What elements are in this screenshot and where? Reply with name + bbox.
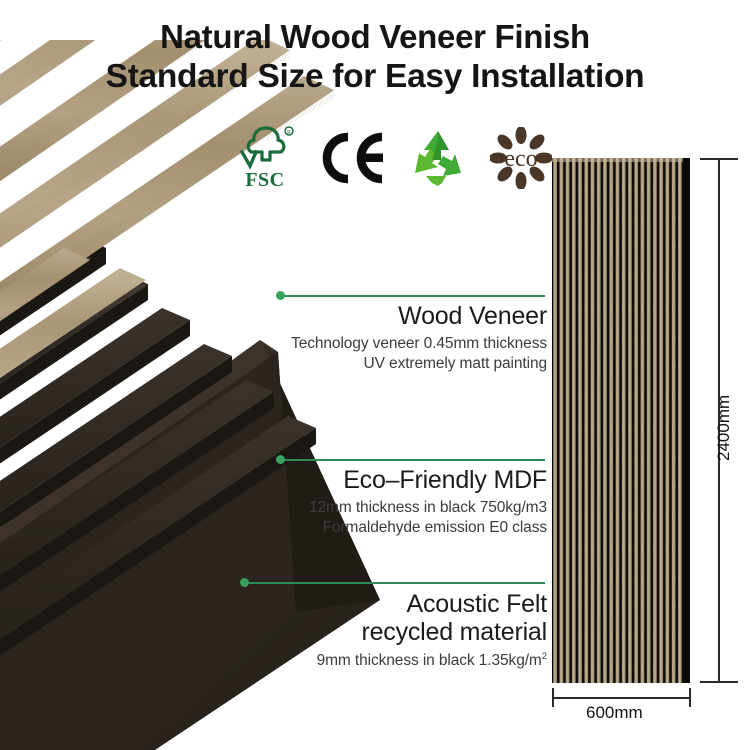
dim-horizontal-line: [552, 697, 691, 699]
dim-height-label: 2400mm: [714, 395, 734, 461]
svg-text:R: R: [287, 130, 291, 136]
callout-sub-1-text: 9mm thickness in black 1.35kg/m: [317, 652, 542, 669]
certification-badges: R FSC: [236, 120, 552, 196]
callout-sub-2: UV extremely matt painting: [277, 354, 547, 374]
page-title: Natural Wood Veneer Finish Standard Size…: [0, 18, 750, 96]
recycling-icon: [408, 121, 468, 195]
dim-tick-right: [689, 688, 691, 707]
callout-title: Acoustic Felt: [241, 590, 547, 618]
ce-icon: [320, 121, 386, 195]
dim-tick-top: [700, 158, 738, 160]
callout-sub-1: 12mm thickness in black 750kg/m3: [277, 498, 547, 518]
callout-title-line-2: recycled material: [241, 618, 547, 646]
leader-dot: [276, 291, 285, 300]
callout-title: Eco–Friendly MDF: [277, 466, 547, 494]
acoustic-slat-panel: [552, 158, 690, 683]
leader-dot: [276, 455, 285, 464]
leader-line: [241, 582, 545, 584]
infographic-canvas: Natural Wood Veneer Finish Standard Size…: [0, 0, 750, 750]
title-line-1: Natural Wood Veneer Finish: [0, 18, 750, 57]
svg-text:FSC: FSC: [245, 169, 284, 191]
eco-icon: eco: [490, 121, 552, 195]
callout-acoustic-felt: Acoustic Felt recycled material 9mm thic…: [241, 582, 547, 672]
callout-wood-veneer: Wood Veneer Technology veneer 0.45mm thi…: [277, 295, 547, 375]
callout-sub-1: Technology veneer 0.45mm thickness: [277, 334, 547, 354]
dim-width-label: 600mm: [586, 703, 643, 723]
callout-sub-2: Formaldehyde emission E0 class: [277, 518, 547, 538]
callout-sub-1: 9mm thickness in black 1.35kg/m2: [241, 651, 547, 672]
callout-sub-1-superscript: 2: [542, 651, 547, 662]
dim-tick-left: [552, 688, 554, 707]
title-line-2: Standard Size for Easy Installation: [0, 57, 750, 97]
leader-line: [277, 295, 545, 297]
dim-tick-bottom: [700, 681, 738, 683]
leader-dot: [240, 578, 249, 587]
fsc-icon: R FSC: [236, 121, 298, 195]
eco-icon-label: eco: [504, 146, 537, 172]
leader-line: [277, 459, 545, 461]
callout-title: Wood Veneer: [277, 302, 547, 330]
callout-eco-friendly-mdf: Eco–Friendly MDF 12mm thickness in black…: [277, 459, 547, 539]
